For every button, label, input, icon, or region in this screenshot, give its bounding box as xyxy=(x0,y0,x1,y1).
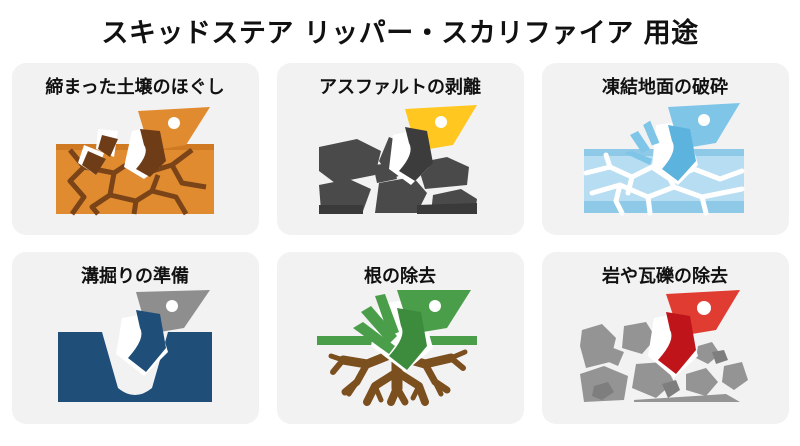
frozen-ice-ripper-icon xyxy=(542,101,789,235)
card-frozen-ground-breaking[interactable]: 凍結地面の破砕 xyxy=(542,63,789,235)
card-title: 凍結地面の破砕 xyxy=(602,77,728,99)
card-rock-and-debris-removal[interactable]: 岩や瓦礫の除去 xyxy=(542,252,789,424)
card-root-removal[interactable]: 根の除去 xyxy=(277,252,524,424)
rock-debris-ripper-icon xyxy=(542,290,789,424)
infographic-page: スキッドステア リッパー・スカリファイア 用途 締まった土壌のほぐし xyxy=(0,0,800,446)
card-title: 根の除去 xyxy=(364,266,436,288)
asphalt-chunks-ripper-icon xyxy=(277,101,524,235)
page-title: スキッドステア リッパー・スカリファイア 用途 xyxy=(0,0,800,51)
card-loosening-compacted-soil[interactable]: 締まった土壌のほぐし xyxy=(12,63,259,235)
card-title: 締まった土壌のほぐし xyxy=(45,77,224,99)
trench-ripper-icon xyxy=(12,290,259,424)
card-title: 溝掘りの準備 xyxy=(81,266,189,288)
card-trench-digging-prep[interactable]: 溝掘りの準備 xyxy=(12,252,259,424)
tree-root-ripper-icon xyxy=(277,290,524,424)
card-title: アスファルトの剥離 xyxy=(319,77,481,99)
card-title: 岩や瓦礫の除去 xyxy=(602,266,728,288)
cracked-soil-ripper-icon xyxy=(12,101,259,235)
card-asphalt-removal[interactable]: アスファルトの剥離 xyxy=(277,63,524,235)
use-case-card-grid: 締まった土壌のほぐし xyxy=(0,63,800,424)
